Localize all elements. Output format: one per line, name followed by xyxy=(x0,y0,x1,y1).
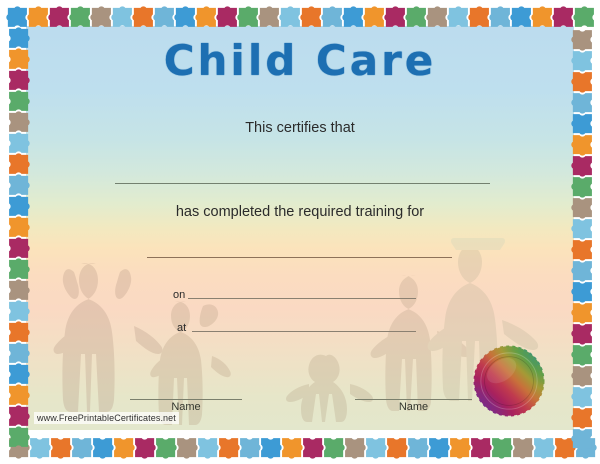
completed-text: has completed the required training for xyxy=(26,204,574,220)
certificate-canvas: Child Care This certifies that has compl… xyxy=(26,26,574,430)
course-name-line[interactable] xyxy=(147,257,452,258)
label-at: at xyxy=(177,322,186,334)
certificate-title: Child Care xyxy=(26,40,574,82)
label-on: on xyxy=(173,289,185,301)
signature-line-left[interactable] xyxy=(130,399,242,400)
date-line[interactable] xyxy=(188,298,416,299)
signature-label-right: Name xyxy=(355,401,472,413)
rainbow-award-seal-icon xyxy=(472,344,546,418)
location-line[interactable] xyxy=(192,331,416,332)
recipient-name-line[interactable] xyxy=(115,183,490,184)
certifies-text: This certifies that xyxy=(26,120,574,136)
source-url-watermark: www.FreePrintableCertificates.net xyxy=(34,412,179,424)
signature-line-right[interactable] xyxy=(355,399,472,400)
certificate-page: Child Care This certifies that has compl… xyxy=(0,0,600,464)
